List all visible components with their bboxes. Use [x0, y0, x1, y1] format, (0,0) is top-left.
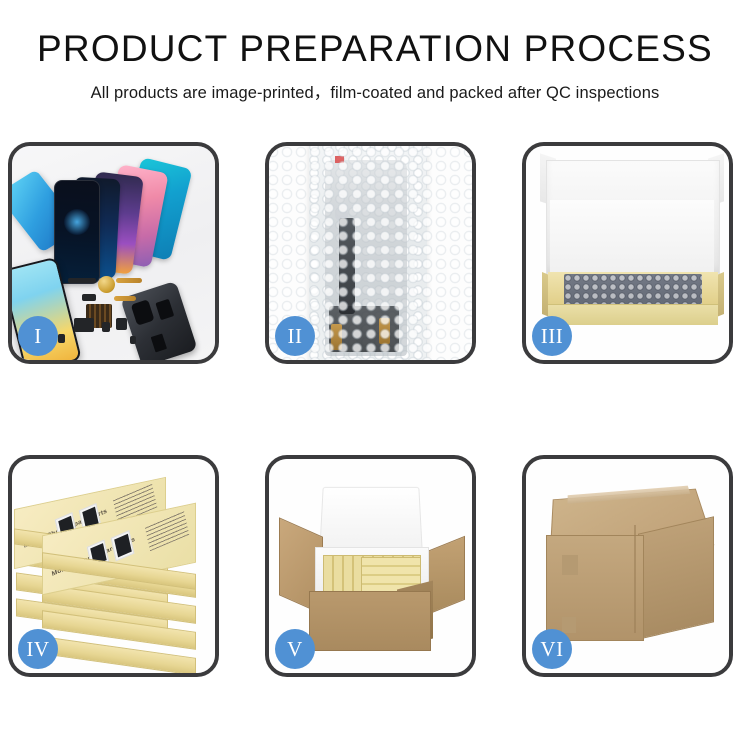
panel-2-badge: II: [275, 316, 315, 356]
part-flex-cable-2: [114, 296, 136, 301]
carton-front-face: [546, 535, 644, 641]
process-panel-2[interactable]: II: [265, 142, 476, 364]
panel-6-badge: VI: [532, 629, 572, 669]
part-strip-2: [74, 318, 94, 332]
gold-contact-right: [379, 318, 390, 344]
foam-lid: [319, 487, 423, 554]
part-speaker-coin: [98, 276, 115, 293]
carton-front-panel: [309, 591, 431, 651]
part-strip-5: [82, 294, 96, 301]
part-screw-2: [130, 336, 136, 344]
process-row-1: I II: [8, 142, 742, 364]
stack-box-text-lines-front: [145, 510, 190, 551]
part-strip-1: [68, 278, 96, 283]
carton-flap-mark-top: [562, 555, 578, 575]
gold-contact-left: [331, 324, 342, 350]
part-strip-4: [102, 322, 110, 332]
carton-right-face: [638, 516, 714, 640]
process-panel-3[interactable]: III: [522, 142, 733, 364]
process-panel-5[interactable]: V: [265, 455, 476, 677]
part-strip-3: [116, 318, 127, 330]
process-row-2: Mobile Phone Spare Parts Mobile Phone Sp…: [8, 455, 742, 677]
stack-box-thumb-front-2: [111, 530, 135, 561]
red-tape-mark: [335, 156, 344, 163]
page-header: PRODUCT PREPARATION PROCESS All products…: [0, 0, 750, 103]
screen-flex-cable: [339, 218, 355, 314]
panel-4-badge: IV: [18, 629, 58, 669]
process-panel-4[interactable]: Mobile Phone Spare Parts Mobile Phone Sp…: [8, 455, 219, 677]
process-grid: I II: [8, 142, 742, 677]
phone-back-housing: [120, 281, 197, 360]
panel-5-badge: V: [275, 629, 315, 669]
part-screw-1: [58, 334, 65, 343]
process-panel-1[interactable]: I: [8, 142, 219, 364]
panel-3-badge: III: [532, 316, 572, 356]
process-panel-6[interactable]: VI: [522, 455, 733, 677]
phone-front-screen: [54, 180, 100, 284]
panel-1-badge: I: [18, 316, 58, 356]
tray-gold-front-edge: [548, 304, 718, 325]
part-flex-cable-1: [116, 278, 142, 283]
tray-white-foam: [550, 200, 714, 276]
page-subtitle: All products are image-printed，film-coat…: [0, 79, 750, 103]
carton-flap-mark-bottom: [562, 617, 576, 633]
page-title: PRODUCT PREPARATION PROCESS: [0, 30, 750, 67]
carton-corner-seam: [634, 525, 636, 633]
